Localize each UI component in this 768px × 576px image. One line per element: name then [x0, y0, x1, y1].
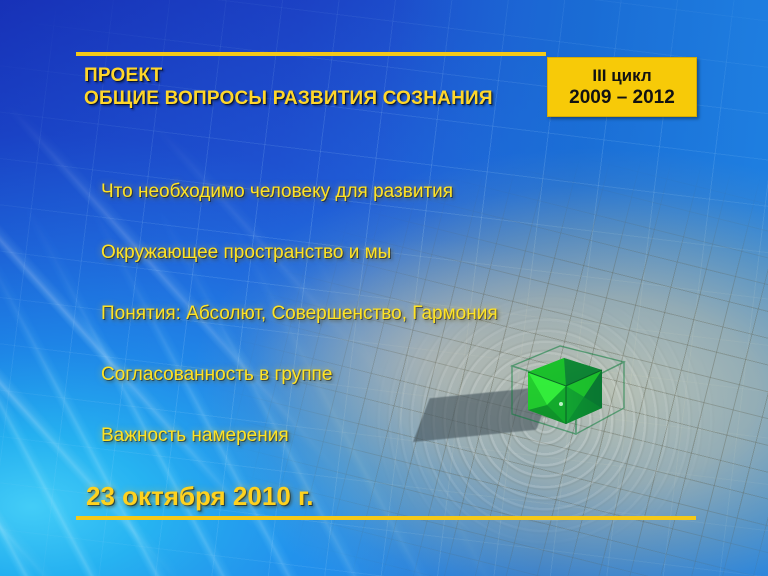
cycle-badge-years: 2009 – 2012: [569, 86, 675, 109]
title-top-rule: [76, 52, 546, 56]
list-item: Согласованность в группе: [101, 344, 701, 405]
bottom-rule: [76, 516, 696, 520]
cycle-badge: III цикл 2009 – 2012: [547, 57, 697, 117]
title-line-2: ОБЩИЕ ВОПРОСЫ РАЗВИТИЯ СОЗНАНИЯ: [84, 87, 554, 110]
list-item: Что необходимо человеку для развития: [101, 161, 701, 222]
list-item: Важность намерения: [101, 405, 701, 466]
slide-date: 23 октября 2010 г.: [86, 481, 313, 512]
page-title: ПРОЕКТ ОБЩИЕ ВОПРОСЫ РАЗВИТИЯ СОЗНАНИЯ: [84, 64, 554, 110]
presentation-slide: ПРОЕКТ ОБЩИЕ ВОПРОСЫ РАЗВИТИЯ СОЗНАНИЯ I…: [0, 0, 768, 576]
cycle-badge-cycle: III цикл: [592, 65, 651, 86]
bullet-list: Что необходимо человеку для развития Окр…: [101, 161, 701, 466]
list-item: Понятия: Абсолют, Совершенство, Гармония: [101, 283, 701, 344]
title-line-1: ПРОЕКТ: [84, 64, 554, 87]
list-item: Окружающее пространство и мы: [101, 222, 701, 283]
